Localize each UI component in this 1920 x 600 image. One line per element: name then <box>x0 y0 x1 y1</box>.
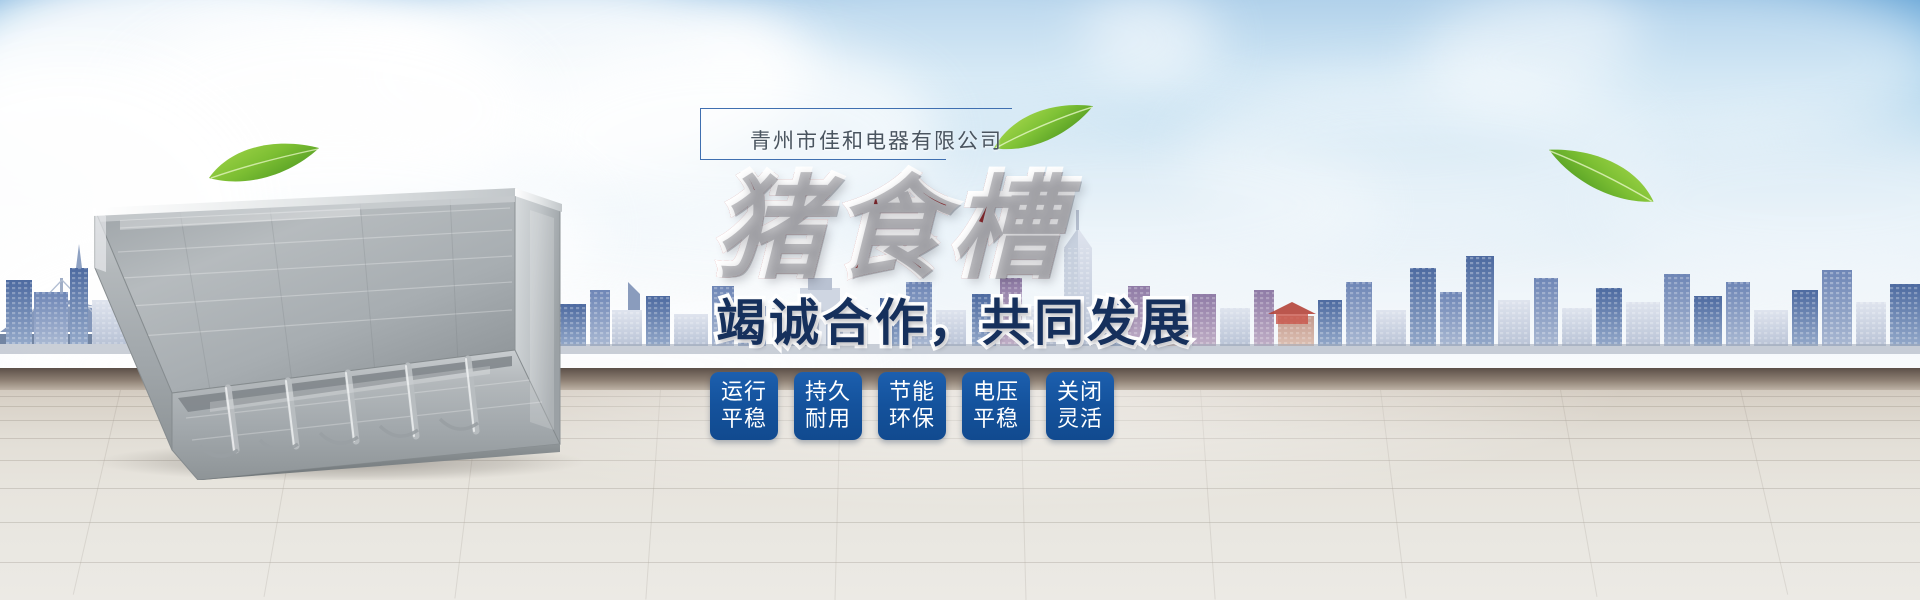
badge-line-1: 持久 <box>805 379 851 406</box>
slogan: 竭诚合作，共同发展 <box>716 298 1193 348</box>
badge-line-2: 耐用 <box>805 406 851 433</box>
title-char-1: 猪 <box>712 172 830 284</box>
text-block: 青州市佳和电器有限公司 猪食槽 竭诚合作，共同发展 运行 平稳 持久 耐用 节能… <box>690 100 1250 540</box>
feature-badge[interactable]: 持久 耐用 <box>794 372 862 440</box>
feature-badge[interactable]: 关闭 灵活 <box>1046 372 1114 440</box>
badge-line-2: 环保 <box>889 406 935 433</box>
badge-line-1: 关闭 <box>1057 379 1103 406</box>
badge-line-1: 运行 <box>721 379 767 406</box>
leaf-decoration-left <box>205 138 325 195</box>
page-title: 猪食槽 <box>712 172 1066 284</box>
badge-line-1: 电压 <box>973 379 1019 406</box>
pig-feeder-trough-illustration <box>60 150 620 480</box>
product-banner: 青州市佳和电器有限公司 猪食槽 竭诚合作，共同发展 运行 平稳 持久 耐用 节能… <box>0 0 1920 600</box>
badge-line-2: 平稳 <box>721 406 767 433</box>
product-image <box>60 150 620 480</box>
title-char-2: 食 <box>830 172 948 284</box>
company-name: 青州市佳和电器有限公司 <box>750 125 1003 155</box>
feature-badge-list: 运行 平稳 持久 耐用 节能 环保 电压 平稳 关闭 灵活 <box>710 372 1114 440</box>
title-char-3: 槽 <box>948 172 1066 284</box>
badge-line-2: 平稳 <box>973 406 1019 433</box>
feature-badge[interactable]: 运行 平稳 <box>710 372 778 440</box>
feature-badge[interactable]: 节能 环保 <box>878 372 946 440</box>
feature-badge[interactable]: 电压 平稳 <box>962 372 1030 440</box>
badge-line-1: 节能 <box>889 379 935 406</box>
badge-line-2: 灵活 <box>1057 406 1103 433</box>
